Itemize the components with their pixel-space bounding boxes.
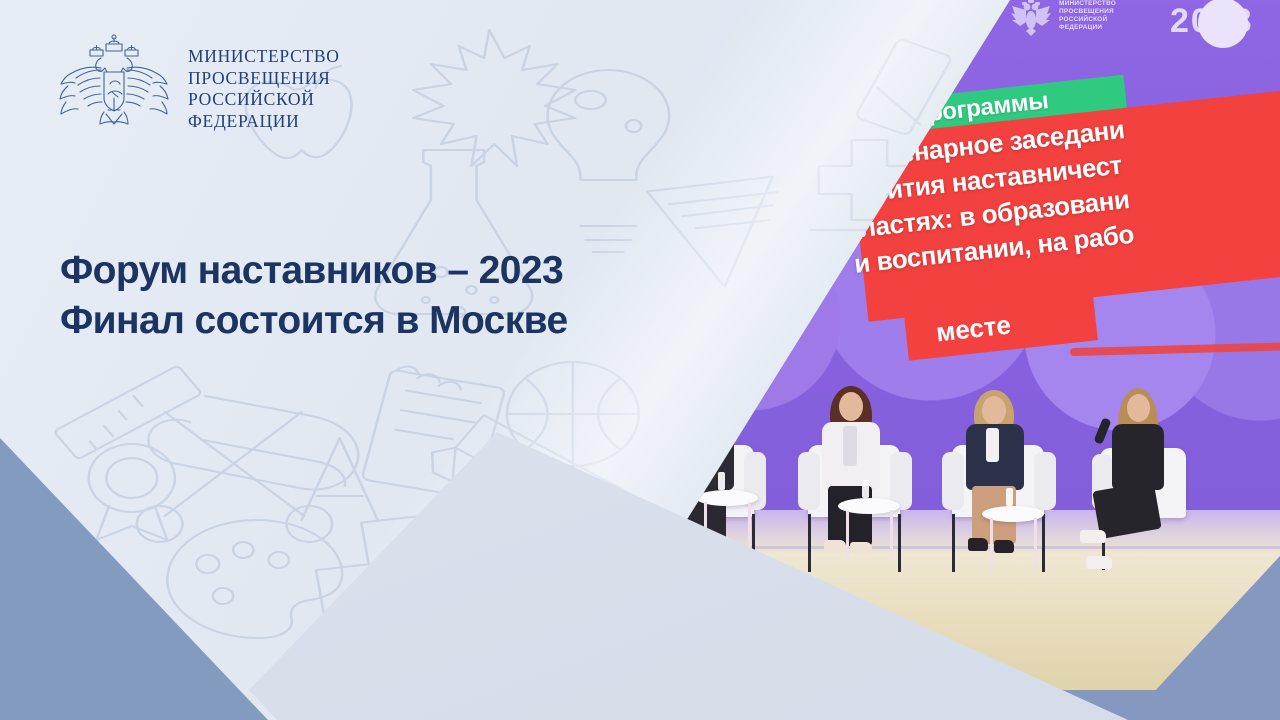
ministry-logo: МИНИСТЕРСТВО ПРОСВЕЩЕНИЯ РОССИЙСКОЙ ФЕДЕ…	[56, 34, 340, 132]
eagle-icon	[1010, 0, 1052, 36]
ministry-text: МИНИСТЕРСТВО ПРОСВЕЩЕНИЯ РОССИЙСКОЙ ФЕДЕ…	[188, 46, 340, 132]
screen-ministry-text: МИНИСТЕРСТВО ПРОСВЕЩЕНИЯ РОССИЙСКОЙ ФЕДЕ…	[1059, 0, 1116, 32]
paperclip-icon	[148, 396, 358, 490]
headline-line-2: Финал состоится в Москве	[60, 296, 568, 346]
pelican-emblem-icon	[1198, 0, 1248, 48]
triangle-ruler-icon	[647, 171, 799, 295]
ministry-line-4: ФЕДЕРАЦИИ	[188, 111, 340, 133]
page-title: Форум наставников – 2023 Финал состоится…	[60, 246, 568, 346]
screen-ministry-logo: МИНИСТЕРСТВО ПРОСВЕЩЕНИЯ РОССИЙСКОЙ ФЕДЕ…	[1010, 0, 1116, 36]
headline-line-1: Форум наставников – 2023	[60, 246, 568, 296]
ministry-line-3: РОССИЙСКОЙ	[188, 89, 340, 111]
ruler-icon	[54, 365, 202, 459]
russian-double-headed-eagle-icon	[56, 34, 172, 126]
announcement-card: МИНИСТЕРСТВО ПРОСВЕЩЕНИЯ РОССИЙСКОЙ ФЕДЕ…	[0, 0, 1280, 720]
palette-icon	[167, 520, 342, 638]
year-of-teacher-logo: 2023	[1170, 0, 1280, 54]
ministry-line-2: ПРОСВЕЩЕНИЯ	[188, 68, 340, 90]
slide-red-tail-text: месте	[934, 309, 1012, 348]
ministry-line-1: МИНИСТЕРСТВО	[188, 46, 340, 68]
screen-logos: МИНИСТЕРСТВО ПРОСВЕЩЕНИЯ РОССИЙСКОЙ ФЕДЕ…	[1010, 0, 1280, 56]
light-bulb-icon	[547, 70, 669, 252]
